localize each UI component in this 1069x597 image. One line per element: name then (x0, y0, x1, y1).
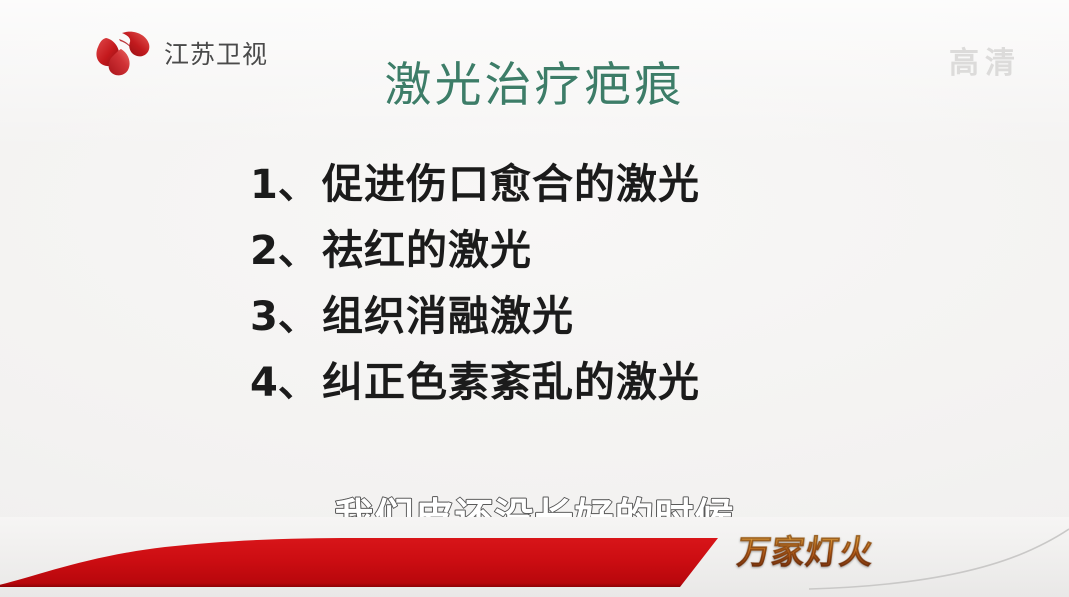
list-item-number: 1、 (250, 152, 322, 210)
bullet-list: 1、 促进伤口愈合的激光 2、 祛红的激光 3、 组织消融激光 4、 纠正色素紊… (250, 150, 890, 414)
list-item: 2、 祛红的激光 (250, 216, 890, 282)
list-item-label: 祛红的激光 (322, 216, 532, 276)
bottom-banner: 万家灯火 (0, 517, 1069, 597)
list-item: 3、 组织消融激光 (250, 282, 890, 348)
list-item-label: 纠正色素紊乱的激光 (322, 348, 700, 408)
broadcast-frame: 江苏卫视 高清 激光治疗疤痕 1、 促进伤口愈合的激光 2、 祛红的激光 3、 … (0, 0, 1069, 597)
slide-title: 激光治疗疤痕 (0, 60, 1069, 112)
list-item-number: 2、 (250, 218, 322, 276)
show-logo: 万家灯火 (735, 525, 877, 573)
list-item-label: 促进伤口愈合的激光 (322, 150, 700, 210)
list-item-label: 组织消融激光 (322, 282, 574, 342)
list-item: 1、 促进伤口愈合的激光 (250, 150, 890, 216)
list-item-number: 3、 (250, 284, 322, 342)
list-item-number: 4、 (250, 350, 322, 408)
red-banner-shape (0, 535, 730, 587)
list-item: 4、 纠正色素紊乱的激光 (250, 348, 890, 414)
